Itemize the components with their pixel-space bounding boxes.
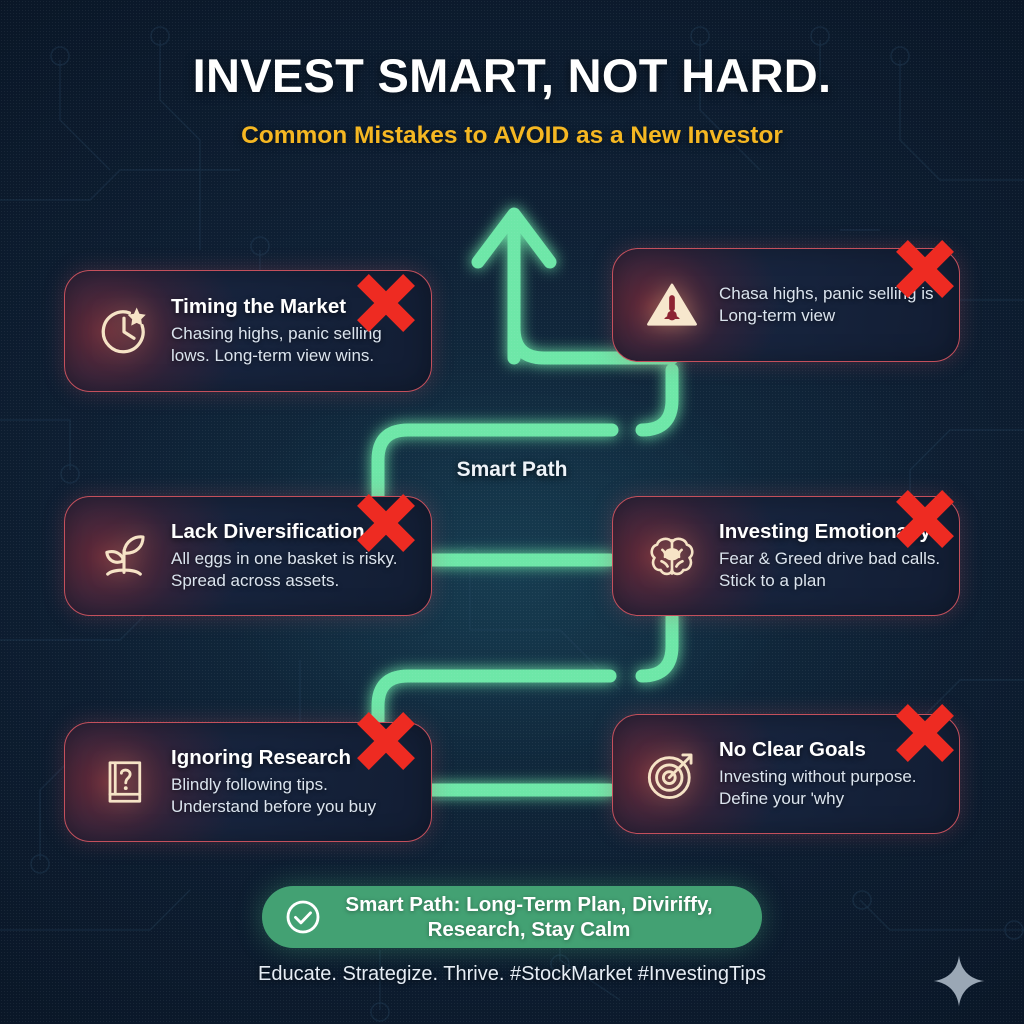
smart-path-label: Smart Path xyxy=(0,458,1024,482)
red-x-icon xyxy=(345,700,427,782)
page-subtitle: Common Mistakes to AVOID as a New Invest… xyxy=(0,122,1024,150)
red-x-icon xyxy=(345,262,427,344)
red-x-icon xyxy=(345,482,427,564)
red-x-icon xyxy=(884,478,966,560)
infographic-canvas: INVEST SMART, NOT HARD. Common Mistakes … xyxy=(0,0,1024,1024)
footer-text: Educate. Strategize. Thrive. #StockMarke… xyxy=(0,963,1024,986)
clock-star-icon xyxy=(87,294,161,368)
target-arrow-icon xyxy=(635,737,709,811)
page-title: INVEST SMART, NOT HARD. xyxy=(0,48,1024,103)
sparkle-icon xyxy=(930,952,988,1010)
warning-triangle-icon xyxy=(635,268,709,342)
brain-icon xyxy=(635,519,709,593)
check-circle-icon xyxy=(282,896,324,938)
banner-text: Smart Path: Long-Term Plan, Diviriffy, R… xyxy=(336,892,762,942)
red-x-icon xyxy=(884,692,966,774)
smart-path-banner[interactable]: Smart Path: Long-Term Plan, Diviriffy, R… xyxy=(262,886,762,948)
red-x-icon xyxy=(884,228,966,310)
sprout-icon xyxy=(87,519,161,593)
book-question-icon xyxy=(87,745,161,819)
